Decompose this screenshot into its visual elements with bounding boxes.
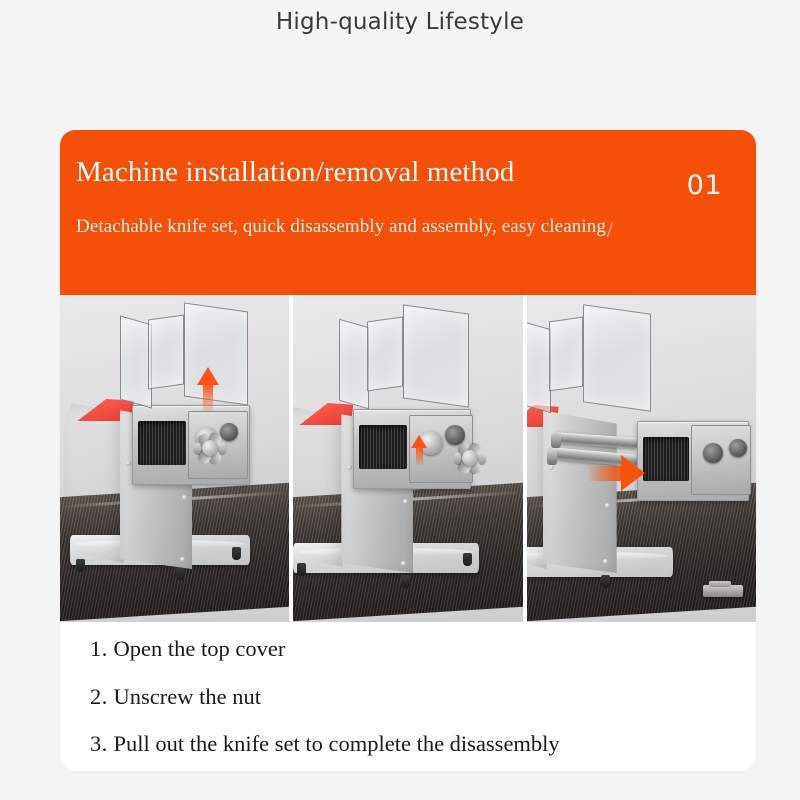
step-text: Pull out the knife set to complete the d… — [114, 731, 560, 756]
knife-hub — [703, 443, 723, 463]
rivet-icon — [401, 561, 406, 566]
rivet-icon — [182, 495, 187, 500]
rivet-icon — [549, 465, 554, 470]
acrylic-guard-left — [339, 319, 369, 410]
machine-red-body — [293, 407, 343, 567]
acrylic-guard-left — [527, 321, 551, 414]
knob-core — [202, 440, 218, 456]
photo-step-2 — [293, 295, 522, 622]
acrylic-guard-center — [549, 317, 583, 392]
acrylic-guard-center — [148, 314, 184, 389]
machine-foot — [401, 575, 410, 588]
step-text: Unscrew the nut — [114, 684, 261, 709]
content-card: Machine installation/removal method Deta… — [60, 130, 756, 771]
acrylic-guard-right — [583, 304, 651, 412]
knife-end-plate — [691, 425, 751, 495]
step-number: 2. — [90, 684, 108, 709]
arrow-shaft — [203, 383, 213, 411]
arrow-shaft — [589, 466, 623, 481]
step-text: Open the top cover — [114, 636, 286, 661]
photo-step-1 — [60, 295, 289, 622]
page-title: High-quality Lifestyle — [0, 0, 800, 34]
list-item: 3. Pull out the knife set to complete th… — [90, 733, 756, 756]
step-number: 3. — [90, 731, 108, 756]
rivet-icon — [180, 557, 185, 562]
shaft-cap — [551, 433, 561, 448]
machine-foot — [76, 559, 85, 572]
section-banner: Machine installation/removal method Deta… — [60, 130, 756, 295]
section-number-badge: 01 — [687, 170, 722, 201]
knife-roller — [138, 421, 186, 465]
star-hand-knob — [453, 441, 487, 475]
rivet-icon — [347, 465, 352, 470]
banner-subtitle-row: Detachable knife set, quick disassembly … — [76, 212, 612, 238]
rivet-icon — [126, 461, 131, 466]
loose-hardware-parts — [703, 585, 743, 597]
rivet-icon — [603, 559, 608, 564]
list-item: 2. Unscrew the nut — [90, 686, 756, 709]
arrow-head — [621, 455, 645, 491]
banner-subtitle-slash: / — [607, 217, 613, 242]
shaft-cap — [547, 450, 557, 465]
machine-foot — [176, 567, 185, 580]
acrylic-guard-center — [367, 316, 403, 391]
star-hand-knob — [193, 431, 227, 465]
rivet-icon — [403, 499, 408, 504]
machine-foot — [297, 563, 306, 576]
banner-heading: Machine installation/removal method — [76, 156, 514, 189]
steps-list: 1. Open the top cover 2. Unscrew the nut… — [60, 622, 756, 756]
right-arrow-icon — [589, 455, 645, 491]
arrow-shaft — [416, 447, 423, 465]
up-arrow-small-icon — [411, 435, 427, 465]
machine-foot — [463, 553, 472, 566]
photo-step-3 — [527, 295, 756, 622]
knife-roller — [643, 437, 689, 481]
step-number: 1. — [90, 636, 108, 661]
machine-foot — [601, 575, 610, 588]
list-item: 1. Open the top cover — [90, 638, 756, 661]
banner-subtitle: Detachable knife set, quick disassembly … — [76, 216, 606, 237]
acrylic-guard-right — [403, 304, 469, 407]
up-arrow-icon — [197, 367, 219, 411]
machine-foot — [232, 547, 241, 560]
knife-roller — [359, 425, 407, 469]
knife-hub-secondary — [729, 439, 747, 457]
machine-red-body — [64, 403, 124, 563]
rivet-icon — [605, 503, 610, 508]
photo-strip — [60, 295, 756, 622]
